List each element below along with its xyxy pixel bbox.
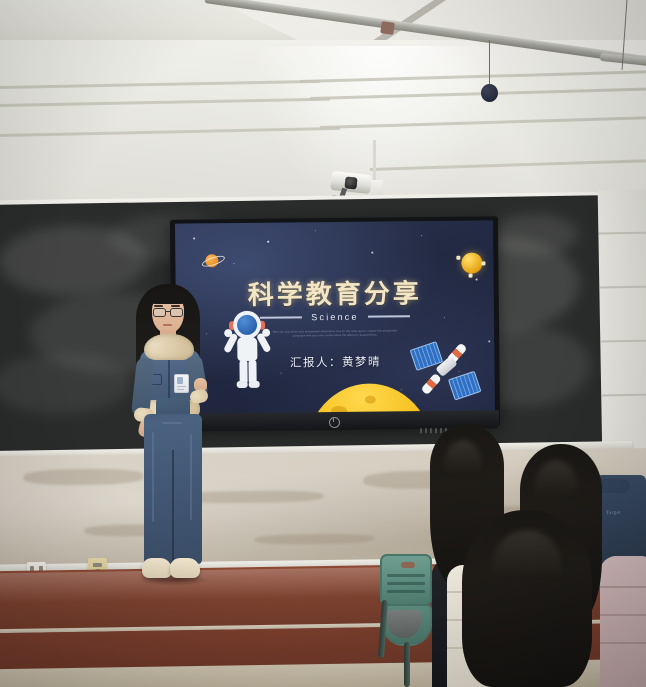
pipe-clamp <box>380 21 395 35</box>
backpack-logo: Target <box>606 511 621 516</box>
eyeglasses-icon <box>153 308 166 317</box>
ringed-planet-icon <box>201 253 223 266</box>
camera-lens-icon <box>344 176 357 189</box>
classroom-presentation-photo: 科学教育分享 Science Here you may insert your … <box>0 0 646 687</box>
presenter-mouth <box>163 324 172 326</box>
astronaut-icon <box>224 311 271 391</box>
student-back-right-jacket <box>600 556 646 687</box>
eyeglasses-icon <box>170 308 183 317</box>
slide-title: 科学教育分享 <box>176 272 494 312</box>
fur-cuff-right <box>189 388 209 404</box>
slide-body-copy: Here you may insert your presentation de… <box>271 329 399 338</box>
satellite-icon <box>412 340 481 403</box>
presenter-boot-left <box>142 558 172 578</box>
hanging-speaker-wire <box>489 40 490 86</box>
chair-backrest <box>380 554 432 606</box>
eyeglasses-bridge <box>165 311 171 312</box>
chair-handle-slot <box>401 562 415 568</box>
wall-panel-right <box>598 189 646 460</box>
slide-canvas[interactable]: 科学教育分享 Science Here you may insert your … <box>175 220 495 416</box>
chair-leg <box>404 642 410 687</box>
slide-subtitle: Science <box>311 312 359 322</box>
gold-planet-icon <box>461 252 482 273</box>
fur-collar <box>144 334 194 360</box>
hair-highlight <box>444 440 482 492</box>
presenter-fringe <box>148 287 188 304</box>
power-button[interactable] <box>329 417 340 428</box>
folding-chair[interactable] <box>378 552 434 687</box>
hair-highlight <box>534 460 578 518</box>
presenter-boot-right <box>170 558 200 578</box>
hanging-speaker <box>481 84 498 102</box>
presenter <box>118 282 222 622</box>
subtitle-rule-right <box>368 316 410 318</box>
id-badge <box>174 374 189 393</box>
hair-highlight <box>492 530 562 604</box>
pants-center-seam <box>172 450 174 564</box>
